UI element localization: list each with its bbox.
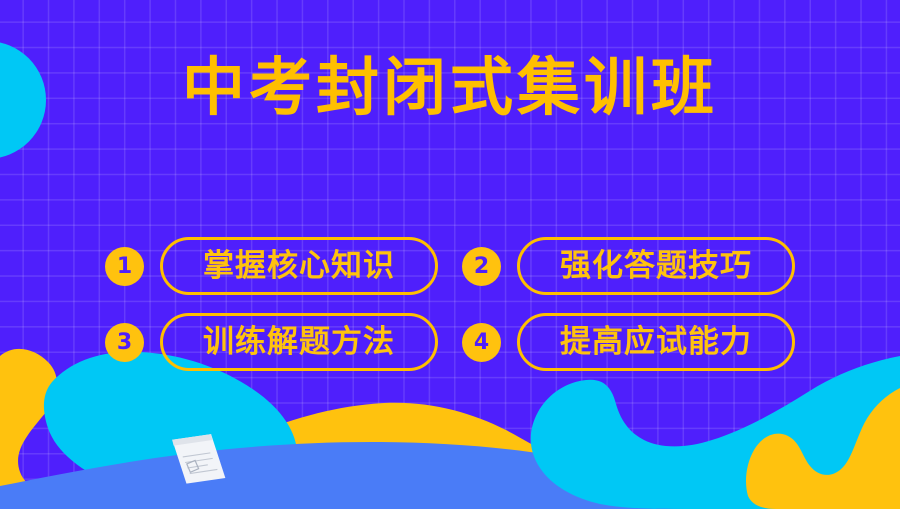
feature-item-1[interactable]: 1 掌握核心知识: [105, 228, 462, 304]
feature-number-badge-2: 2: [462, 247, 501, 286]
feature-item-2[interactable]: 2 强化答题技巧: [462, 228, 795, 304]
feature-label-pill-2: 强化答题技巧: [517, 237, 795, 295]
feature-label-pill-4: 提高应试能力: [517, 313, 795, 371]
feature-number-badge-1: 1: [105, 247, 144, 286]
feature-number-badge-3: 3: [105, 323, 144, 362]
feature-item-4[interactable]: 4 提高应试能力: [462, 304, 795, 380]
feature-list: 1 掌握核心知识 2 强化答题技巧 3 训练解题方法 4 提高应试能力: [105, 228, 795, 380]
feature-label-pill-3: 训练解题方法: [160, 313, 438, 371]
promo-banner: 中考封闭式集训班 1 掌握核心知识 2 强化答题技巧 3 训练解题方法 4 提高…: [0, 0, 900, 509]
feature-number-badge-4: 4: [462, 323, 501, 362]
feature-label-pill-1: 掌握核心知识: [160, 237, 438, 295]
feature-item-3[interactable]: 3 训练解题方法: [105, 304, 462, 380]
banner-title: 中考封闭式集训班: [0, 50, 900, 126]
